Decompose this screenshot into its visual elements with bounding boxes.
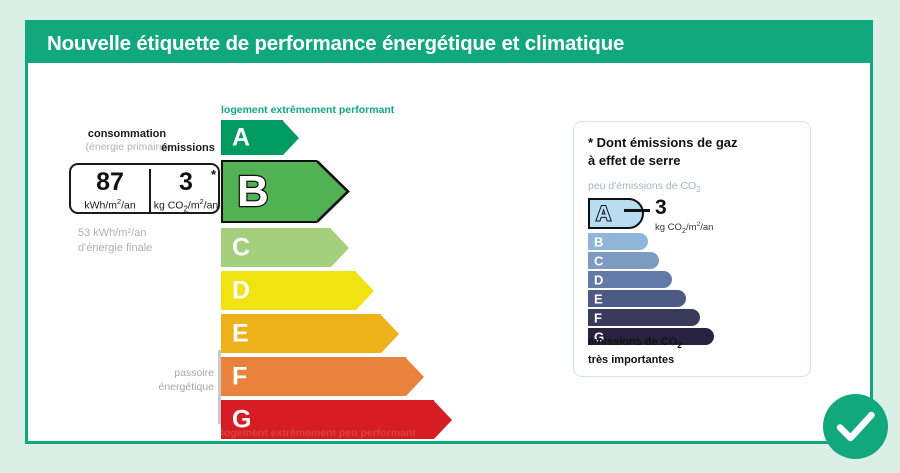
co2-value-unit: kg CO2/m2/an bbox=[655, 221, 713, 235]
co2-bar-letter-B: B bbox=[594, 235, 603, 248]
energy-bar-C: C bbox=[221, 228, 349, 267]
energy-bar-tip-A bbox=[283, 121, 299, 155]
co2-caption-bottom-line2: très importantes bbox=[588, 353, 682, 368]
value-box: 87 kWh/m2/an * 3 kg CO2/m2/an bbox=[69, 163, 220, 214]
energy-bar-letter-F: F bbox=[232, 364, 247, 389]
co2-bar-letter-E: E bbox=[594, 292, 603, 305]
co2-caption-top: peu d'émissions de CO2 bbox=[588, 180, 701, 194]
emissions-unit: kg CO2/m2/an bbox=[150, 197, 222, 214]
scale-caption-bottom: logement extrêmement peu performant bbox=[221, 427, 416, 439]
co2-bar-letter-D: D bbox=[594, 273, 603, 286]
emissions-value: 3 bbox=[150, 169, 222, 195]
co2-bar-letter-C: C bbox=[594, 254, 603, 267]
energy-bar-letter-D: D bbox=[232, 278, 250, 303]
energy-bar-tip-F bbox=[406, 358, 424, 396]
validation-badge bbox=[823, 394, 888, 459]
co2-bar-B: B bbox=[588, 233, 648, 250]
scale-caption-top: logement extrêmement performant bbox=[221, 104, 394, 116]
co2-caption-bottom: émissions de CO2 très importantes bbox=[588, 335, 682, 368]
energy-bar-letter-E: E bbox=[232, 321, 249, 346]
energy-bar-letter-A: A bbox=[232, 125, 250, 150]
energy-bar-letter-C: C bbox=[232, 235, 250, 260]
energy-bar-body-B bbox=[221, 160, 317, 223]
energy-bar-A: A bbox=[221, 120, 299, 155]
co2-value: 3 bbox=[655, 196, 667, 220]
co2-bar-letter-A: A bbox=[596, 203, 611, 224]
co2-bar-F: F bbox=[588, 309, 700, 326]
label-card: Nouvelle étiquette de performance énergé… bbox=[25, 20, 873, 444]
co2-bar-E: E bbox=[588, 290, 686, 307]
co2-title-line1: * Dont émissions de gaz bbox=[588, 134, 738, 152]
energy-bar-letter-B: B bbox=[237, 170, 269, 214]
consumption-value: 87 bbox=[71, 169, 149, 195]
energy-bar-B: B bbox=[221, 160, 350, 223]
energy-bar-tip-C bbox=[331, 229, 349, 267]
energy-bar-tip-D bbox=[356, 272, 374, 310]
co2-bar-D: D bbox=[588, 271, 672, 288]
co2-leader-line bbox=[624, 209, 650, 212]
energy-bar-tip-E bbox=[381, 315, 399, 353]
consumption-cell: 87 kWh/m2/an bbox=[71, 165, 149, 212]
co2-bar-A: A bbox=[588, 198, 644, 229]
co2-bar-C: C bbox=[588, 252, 659, 269]
check-icon bbox=[823, 394, 888, 459]
emissions-cell: * 3 kg CO2/m2/an bbox=[150, 165, 222, 212]
energy-bar-body-A bbox=[221, 120, 283, 155]
energy-bar-tip-G bbox=[434, 401, 452, 439]
co2-panel: * Dont émissions de gaz à effet de serre… bbox=[573, 121, 811, 377]
consumption-unit: kWh/m2/an bbox=[71, 197, 149, 212]
energy-bar-E: E bbox=[221, 314, 399, 353]
co2-caption-bottom-line1: émissions de CO2 bbox=[588, 335, 682, 353]
co2-bar-letter-F: F bbox=[594, 311, 602, 324]
co2-panel-title: * Dont émissions de gaz à effet de serre bbox=[588, 134, 738, 170]
energy-bar-D: D bbox=[221, 271, 374, 310]
co2-title-line2: à effet de serre bbox=[588, 152, 738, 170]
energy-bar-body-F bbox=[221, 357, 406, 396]
energy-bar-F: F bbox=[221, 357, 424, 396]
energy-bar-tip-B bbox=[317, 160, 350, 223]
